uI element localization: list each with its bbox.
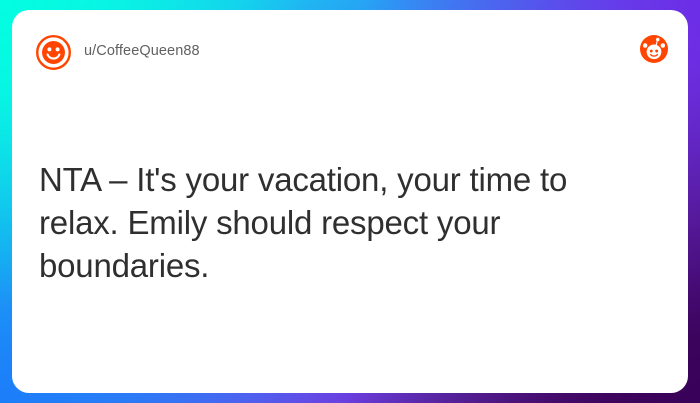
avatar[interactable]: [35, 34, 72, 71]
comment-card-header: u/CoffeeQueen88: [12, 10, 688, 90]
username-label: u/CoffeeQueen88: [84, 43, 200, 59]
reddit-snoo-icon: [640, 35, 668, 63]
smiley-face-avatar-icon: [35, 34, 72, 71]
reddit-brand-logo[interactable]: [640, 35, 668, 63]
reddit-comment-screenshot: u/CoffeeQueen88 NTA – It's your vacation…: [0, 0, 700, 403]
comment-card: u/CoffeeQueen88 NTA – It's your vacation…: [12, 10, 688, 393]
comment-body-text: NTA – It's your vacation, your time to r…: [39, 158, 648, 287]
